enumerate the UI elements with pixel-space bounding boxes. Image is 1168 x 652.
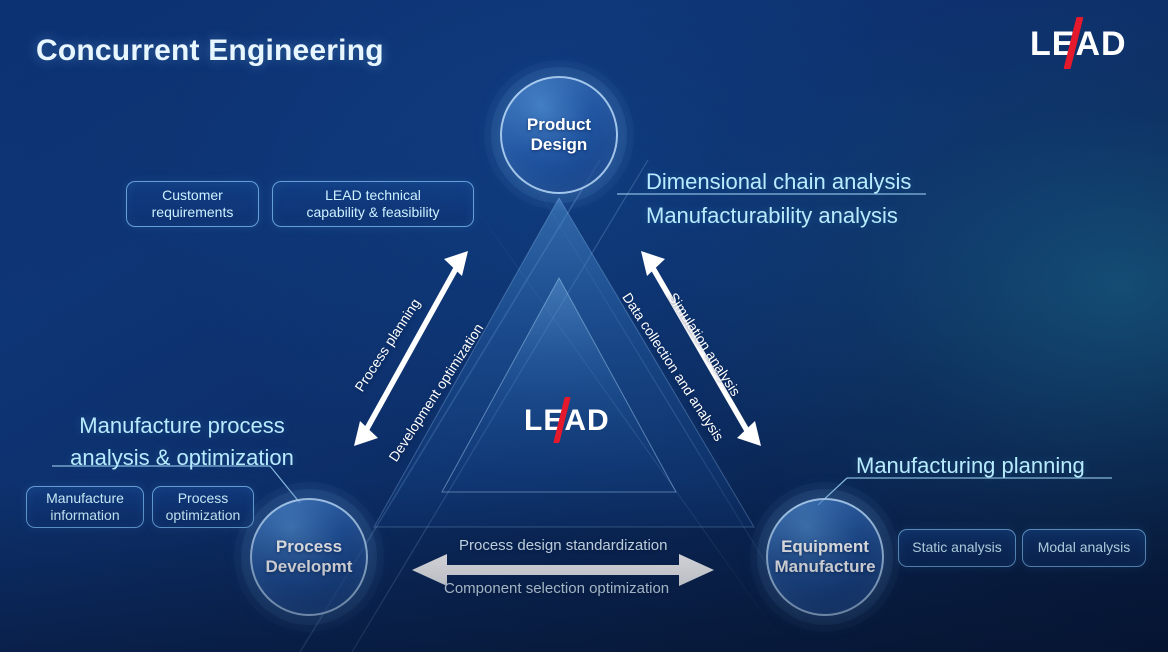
- pill-static-analysis-label: Static analysis: [912, 539, 1001, 557]
- heading-manufacturing-planning: Manufacturing planning: [856, 450, 1085, 482]
- heading-manufacture-process-analysis: Manufacture process analysis & optimizat…: [48, 410, 316, 474]
- node-process-development[interactable]: Process Developmt: [250, 498, 368, 616]
- pill-customer-requirements-line2: requirements: [152, 204, 234, 222]
- node-equipment-manufacture-line2: Manufacture: [774, 557, 875, 577]
- node-product-design[interactable]: Product Design: [500, 76, 618, 194]
- node-product-design-line2: Design: [527, 135, 591, 155]
- pill-customer-requirements[interactable]: Customer requirements: [126, 181, 259, 227]
- lead-logo-center-icon: LEAD: [524, 406, 610, 436]
- arrow-label-component-selection-optimization: Component selection optimization: [444, 580, 669, 597]
- arrow-label-process-design-standardization: Process design standardization: [459, 537, 667, 554]
- node-equipment-manufacture[interactable]: Equipment Manufacture: [766, 498, 884, 616]
- heading-manufacture-process-line1: Manufacture process: [48, 410, 316, 442]
- node-equipment-manufacture-line1: Equipment: [774, 537, 875, 557]
- node-process-development-line1: Process: [266, 537, 353, 557]
- pill-lead-technical-capability[interactable]: LEAD technical capability & feasibility: [272, 181, 474, 227]
- pill-modal-analysis-label: Modal analysis: [1038, 539, 1131, 557]
- page-title: Concurrent Engineering: [36, 34, 384, 68]
- pill-process-optimization[interactable]: Process optimization: [152, 486, 254, 528]
- pill-lead-technical-capability-line2: capability & feasibility: [306, 204, 439, 222]
- lead-logo-header-icon: LEAD: [1030, 27, 1127, 61]
- slide-canvas: Concurrent Engineering LEAD LEAD Product…: [0, 0, 1168, 652]
- node-product-design-line1: Product: [527, 115, 591, 135]
- heading-manufacturability-analysis: Manufacturability analysis: [646, 200, 898, 232]
- pill-lead-technical-capability-line1: LEAD technical: [306, 187, 439, 205]
- pill-manufacture-information-line2: information: [46, 507, 124, 525]
- pill-customer-requirements-line1: Customer: [152, 187, 234, 205]
- pill-modal-analysis[interactable]: Modal analysis: [1022, 529, 1146, 567]
- pill-static-analysis[interactable]: Static analysis: [898, 529, 1016, 567]
- pill-process-optimization-line1: Process: [166, 490, 241, 508]
- heading-dimensional-chain-analysis: Dimensional chain analysis: [646, 166, 911, 198]
- pill-process-optimization-line2: optimization: [166, 507, 241, 525]
- heading-manufacture-process-line2: analysis & optimization: [48, 442, 316, 474]
- pill-manufacture-information-line1: Manufacture: [46, 490, 124, 508]
- node-process-development-line2: Developmt: [266, 557, 353, 577]
- pill-manufacture-information[interactable]: Manufacture information: [26, 486, 144, 528]
